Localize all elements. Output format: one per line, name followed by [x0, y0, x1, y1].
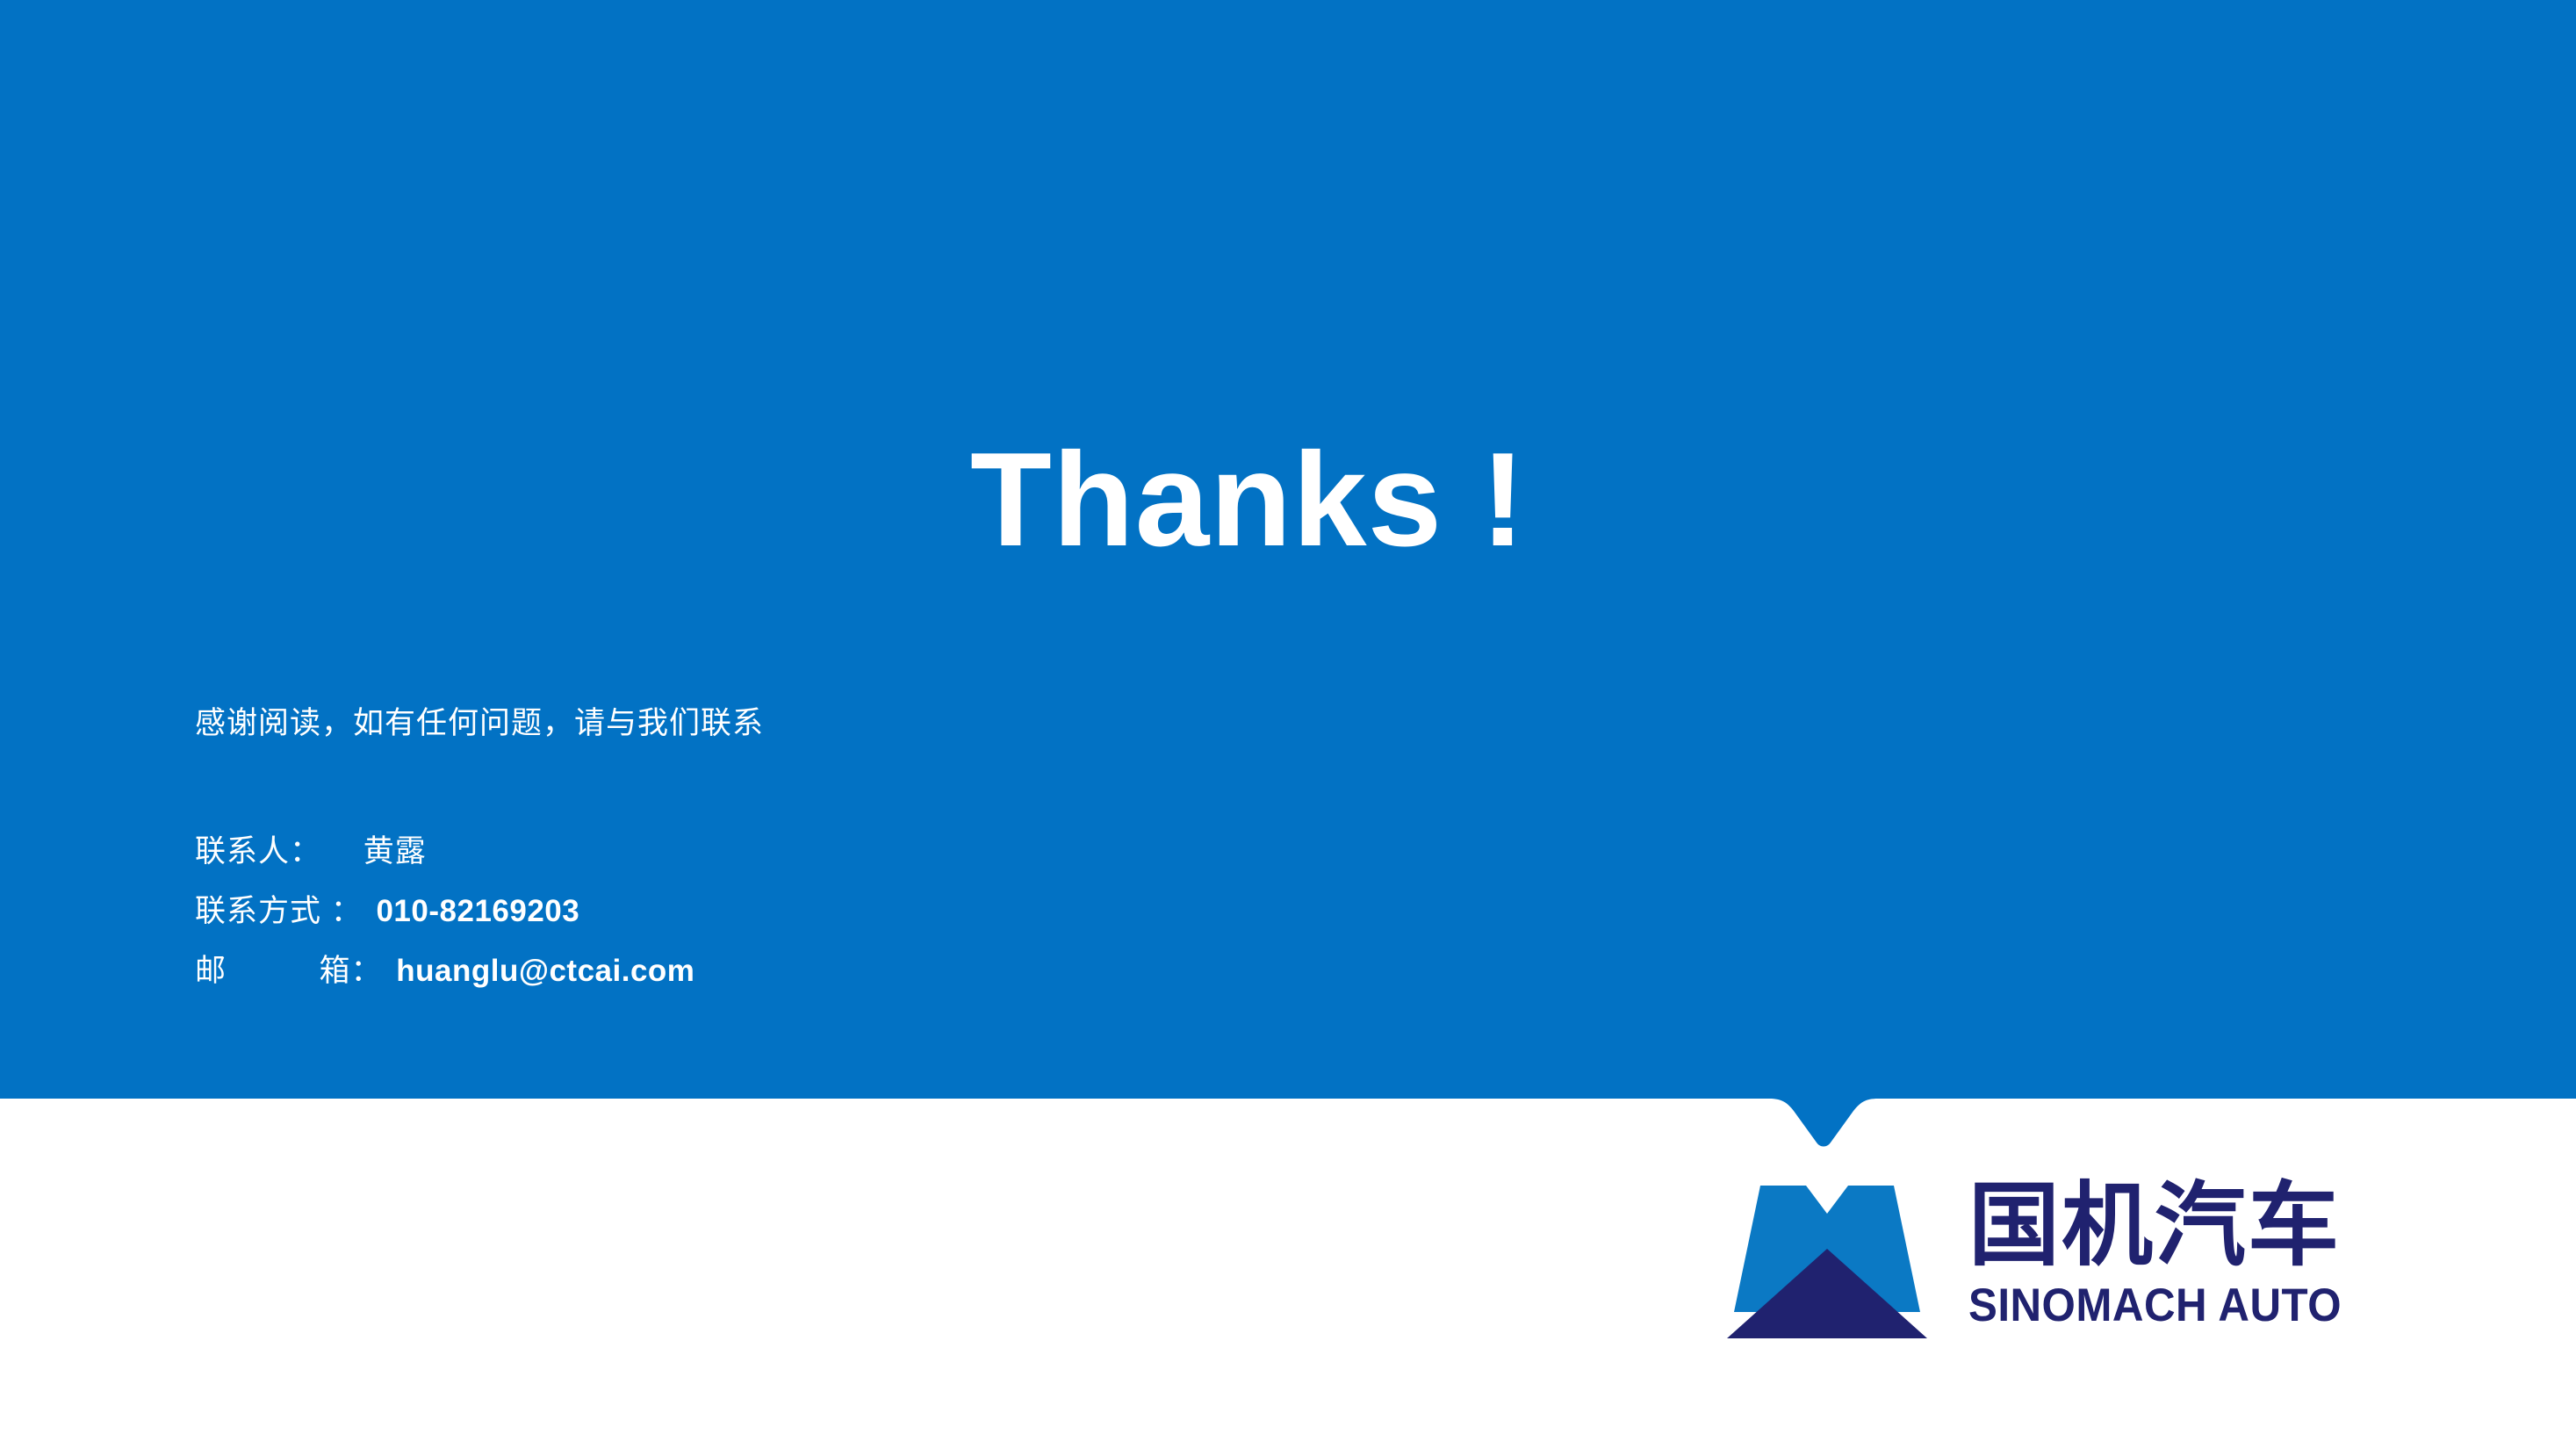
- contact-row-phone: 联系方式 ： 010-82169203: [195, 882, 1248, 941]
- sinomach-mountain-mark-icon: [1719, 1180, 1935, 1344]
- logo-wordmark: 国机汽车 SINOMACH AUTO: [1968, 1180, 2370, 1329]
- panel-chevron-notch-icon: [1769, 1097, 1878, 1155]
- contact-phone-value[interactable]: 010-82169203: [371, 882, 579, 941]
- contact-row-person: 联系人： 黄露: [195, 822, 1248, 882]
- thanks-slide: Thanks ! 感谢阅读，如有任何问题，请与我们联系 联系人： 黄露 联系方式…: [0, 0, 2576, 1449]
- contact-person-label: 联系人：: [195, 822, 321, 882]
- contact-email-value[interactable]: huanglu@ctcai.com: [391, 941, 694, 1001]
- contact-person-value: 黄露: [330, 822, 427, 882]
- page-title: Thanks !: [970, 423, 1526, 577]
- logo-english-name: SINOMACH AUTO: [1968, 1282, 2342, 1329]
- contact-email-label-end: 箱：: [319, 941, 382, 1001]
- contact-block: 联系人： 黄露 联系方式 ： 010-82169203 邮 箱： huanglu…: [195, 822, 1248, 1001]
- intro-text: 感谢阅读，如有任何问题，请与我们联系: [195, 698, 764, 743]
- contact-email-label-start: 邮: [195, 941, 227, 1001]
- contact-phone-label: 联系方式 ：: [195, 882, 363, 941]
- contact-row-email: 邮 箱： huanglu@ctcai.com: [195, 941, 1248, 1001]
- company-logo: 国机汽车 SINOMACH AUTO: [1719, 1180, 2370, 1344]
- logo-chinese-name: 国机汽车: [1968, 1180, 2370, 1272]
